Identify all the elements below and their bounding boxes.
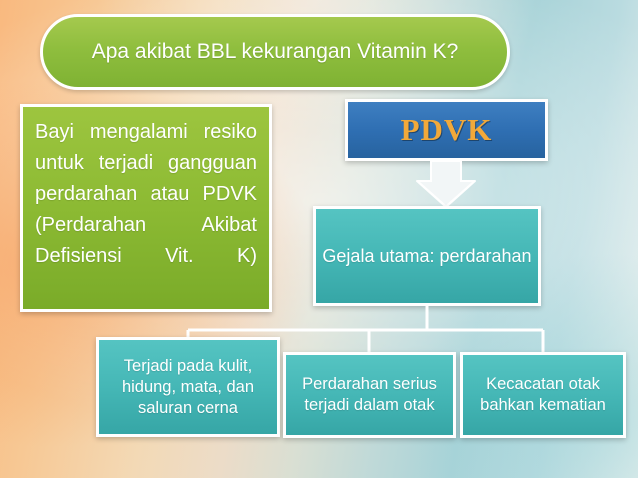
node-pdvk: PDVK — [345, 99, 548, 161]
slide-canvas: Apa akibat BBL kekurangan Vitamin K? Bay… — [0, 0, 638, 478]
node-leaf-1: Terjadi pada kulit, hidung, mata, dan sa… — [96, 337, 280, 437]
node-leaf-2: Perdarahan serius terjadi dalam otak — [283, 352, 456, 438]
left-description-text: Bayi mengalami resiko untuk terjadi gang… — [35, 117, 257, 272]
node-leaf-3-label: Kecacatan otak bahkan kematian — [463, 374, 623, 416]
page-title: Apa akibat BBL kekurangan Vitamin K? — [66, 38, 485, 66]
title-banner: Apa akibat BBL kekurangan Vitamin K? — [40, 14, 510, 90]
node-leaf-1-label: Terjadi pada kulit, hidung, mata, dan sa… — [99, 356, 277, 419]
node-gejala-utama-label: Gejala utama: perdarahan — [322, 244, 531, 268]
node-leaf-2-label: Perdarahan serius terjadi dalam otak — [286, 374, 453, 416]
node-gejala-utama: Gejala utama: perdarahan — [313, 206, 541, 306]
left-description-box: Bayi mengalami resiko untuk terjadi gang… — [20, 104, 272, 312]
arrow-down-icon — [415, 161, 477, 209]
node-pdvk-label: PDVK — [401, 112, 493, 148]
node-leaf-3: Kecacatan otak bahkan kematian — [460, 352, 626, 438]
